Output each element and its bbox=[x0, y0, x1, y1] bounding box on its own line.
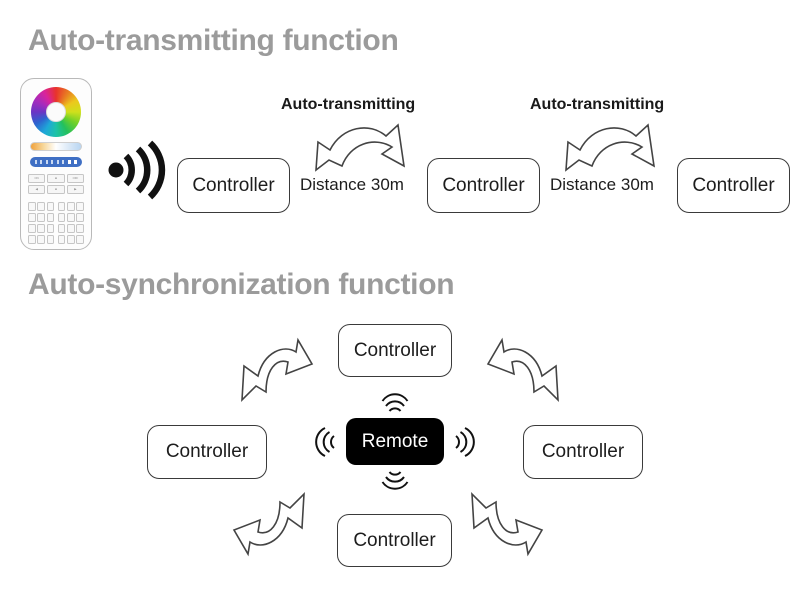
wave-right-icon bbox=[453, 427, 475, 457]
sync-controller-bottom[interactable]: Controller bbox=[337, 514, 452, 567]
remote-zone-group-right bbox=[58, 213, 84, 222]
link-label-auto-transmitting-2: Auto-transmitting bbox=[530, 96, 664, 114]
zone-7-off-button[interactable] bbox=[47, 235, 55, 244]
color-temperature-bar-icon bbox=[30, 142, 82, 151]
wifi-broadcast-icon bbox=[104, 140, 168, 200]
zone-5-on-button[interactable] bbox=[28, 224, 36, 233]
rgb-remote-control-device: ON ■ OFF ◀ ■ ▶ bbox=[20, 78, 92, 250]
page-title-auto-synchronization: Auto-synchronization function bbox=[28, 268, 454, 302]
zone-1-on-button[interactable] bbox=[28, 202, 36, 211]
sync-controller-bottom-label: Controller bbox=[353, 530, 435, 552]
sync-controller-left-label: Controller bbox=[166, 441, 248, 463]
wave-up-icon bbox=[381, 392, 409, 414]
zone-8-off-button[interactable] bbox=[76, 235, 84, 244]
remote-off-button[interactable]: OFF bbox=[67, 174, 84, 183]
zone-4-on-button[interactable] bbox=[58, 213, 66, 222]
zone-5-off-button[interactable] bbox=[47, 224, 55, 233]
remote-zone-group-left bbox=[28, 213, 54, 222]
remote-zone-row-2 bbox=[28, 213, 84, 222]
sync-controller-top[interactable]: Controller bbox=[338, 324, 452, 377]
zone-4-off-button[interactable] bbox=[76, 213, 84, 222]
remote-on-button[interactable]: ON bbox=[28, 174, 45, 183]
remote-zone-group-left bbox=[28, 235, 54, 244]
remote-mode-button[interactable]: ■ bbox=[47, 174, 64, 183]
sync-controller-top-label: Controller bbox=[354, 340, 436, 362]
zone-3-off-button[interactable] bbox=[47, 213, 55, 222]
arrow-transmit-2 bbox=[562, 122, 658, 172]
wave-left-icon bbox=[315, 427, 337, 457]
zone-2-off-button[interactable] bbox=[76, 202, 84, 211]
controller-node-1[interactable]: Controller bbox=[177, 158, 290, 213]
remote-zone-group-left bbox=[28, 202, 54, 211]
zone-6-off-button[interactable] bbox=[76, 224, 84, 233]
remote-zone-row-4 bbox=[28, 235, 84, 244]
color-wheel-icon bbox=[31, 87, 81, 137]
arrow-top-left-icon bbox=[236, 338, 314, 402]
controller-node-3[interactable]: Controller bbox=[677, 158, 790, 213]
controller-node-1-label: Controller bbox=[192, 175, 274, 197]
zone-3-dim-button[interactable] bbox=[37, 213, 45, 222]
zone-2-dim-button[interactable] bbox=[67, 202, 75, 211]
arrow-transmit-1 bbox=[312, 122, 408, 172]
sync-controller-left[interactable]: Controller bbox=[147, 425, 267, 479]
page-title-auto-transmitting: Auto-transmitting function bbox=[28, 24, 398, 58]
sync-controller-right[interactable]: Controller bbox=[523, 425, 643, 479]
remote-next-button[interactable]: ▶ bbox=[67, 185, 84, 194]
controller-node-2[interactable]: Controller bbox=[427, 158, 540, 213]
remote-button-grid: ON ■ OFF ◀ ■ ▶ bbox=[28, 174, 84, 244]
remote-play-button[interactable]: ■ bbox=[47, 185, 64, 194]
sync-controller-right-label: Controller bbox=[542, 441, 624, 463]
link-caption-distance-1: Distance 30m bbox=[300, 175, 404, 195]
zone-8-on-button[interactable] bbox=[58, 235, 66, 244]
link-caption-distance-2: Distance 30m bbox=[550, 175, 654, 195]
zone-7-on-button[interactable] bbox=[28, 235, 36, 244]
remote-prev-button[interactable]: ◀ bbox=[28, 185, 45, 194]
arrow-bottom-right-icon bbox=[466, 492, 544, 556]
controller-node-2-label: Controller bbox=[442, 175, 524, 197]
zone-4-dim-button[interactable] bbox=[67, 213, 75, 222]
zone-6-on-button[interactable] bbox=[58, 224, 66, 233]
arrow-top-right-icon bbox=[486, 338, 564, 402]
brightness-slider-icon bbox=[30, 157, 82, 167]
controller-node-3-label: Controller bbox=[692, 175, 774, 197]
remote-zone-row-3 bbox=[28, 224, 84, 233]
zone-1-dim-button[interactable] bbox=[37, 202, 45, 211]
zone-5-dim-button[interactable] bbox=[37, 224, 45, 233]
zone-3-on-button[interactable] bbox=[28, 213, 36, 222]
link-label-auto-transmitting-1: Auto-transmitting bbox=[281, 96, 415, 114]
remote-center-node[interactable]: Remote bbox=[346, 418, 444, 465]
arrow-bottom-left-icon bbox=[232, 492, 310, 556]
zone-1-off-button[interactable] bbox=[47, 202, 55, 211]
remote-center-label: Remote bbox=[362, 431, 429, 453]
wave-down-icon bbox=[381, 469, 409, 491]
remote-button-row: ◀ ■ ▶ bbox=[28, 185, 84, 194]
remote-zone-group-right bbox=[58, 202, 84, 211]
zone-2-on-button[interactable] bbox=[58, 202, 66, 211]
remote-zone-row-1 bbox=[28, 202, 84, 211]
remote-button-row: ON ■ OFF bbox=[28, 174, 84, 183]
zone-7-dim-button[interactable] bbox=[37, 235, 45, 244]
zone-6-dim-button[interactable] bbox=[67, 224, 75, 233]
remote-zone-group-right bbox=[58, 224, 84, 233]
remote-zone-group-left bbox=[28, 224, 54, 233]
zone-8-dim-button[interactable] bbox=[67, 235, 75, 244]
remote-zone-group-right bbox=[58, 235, 84, 244]
